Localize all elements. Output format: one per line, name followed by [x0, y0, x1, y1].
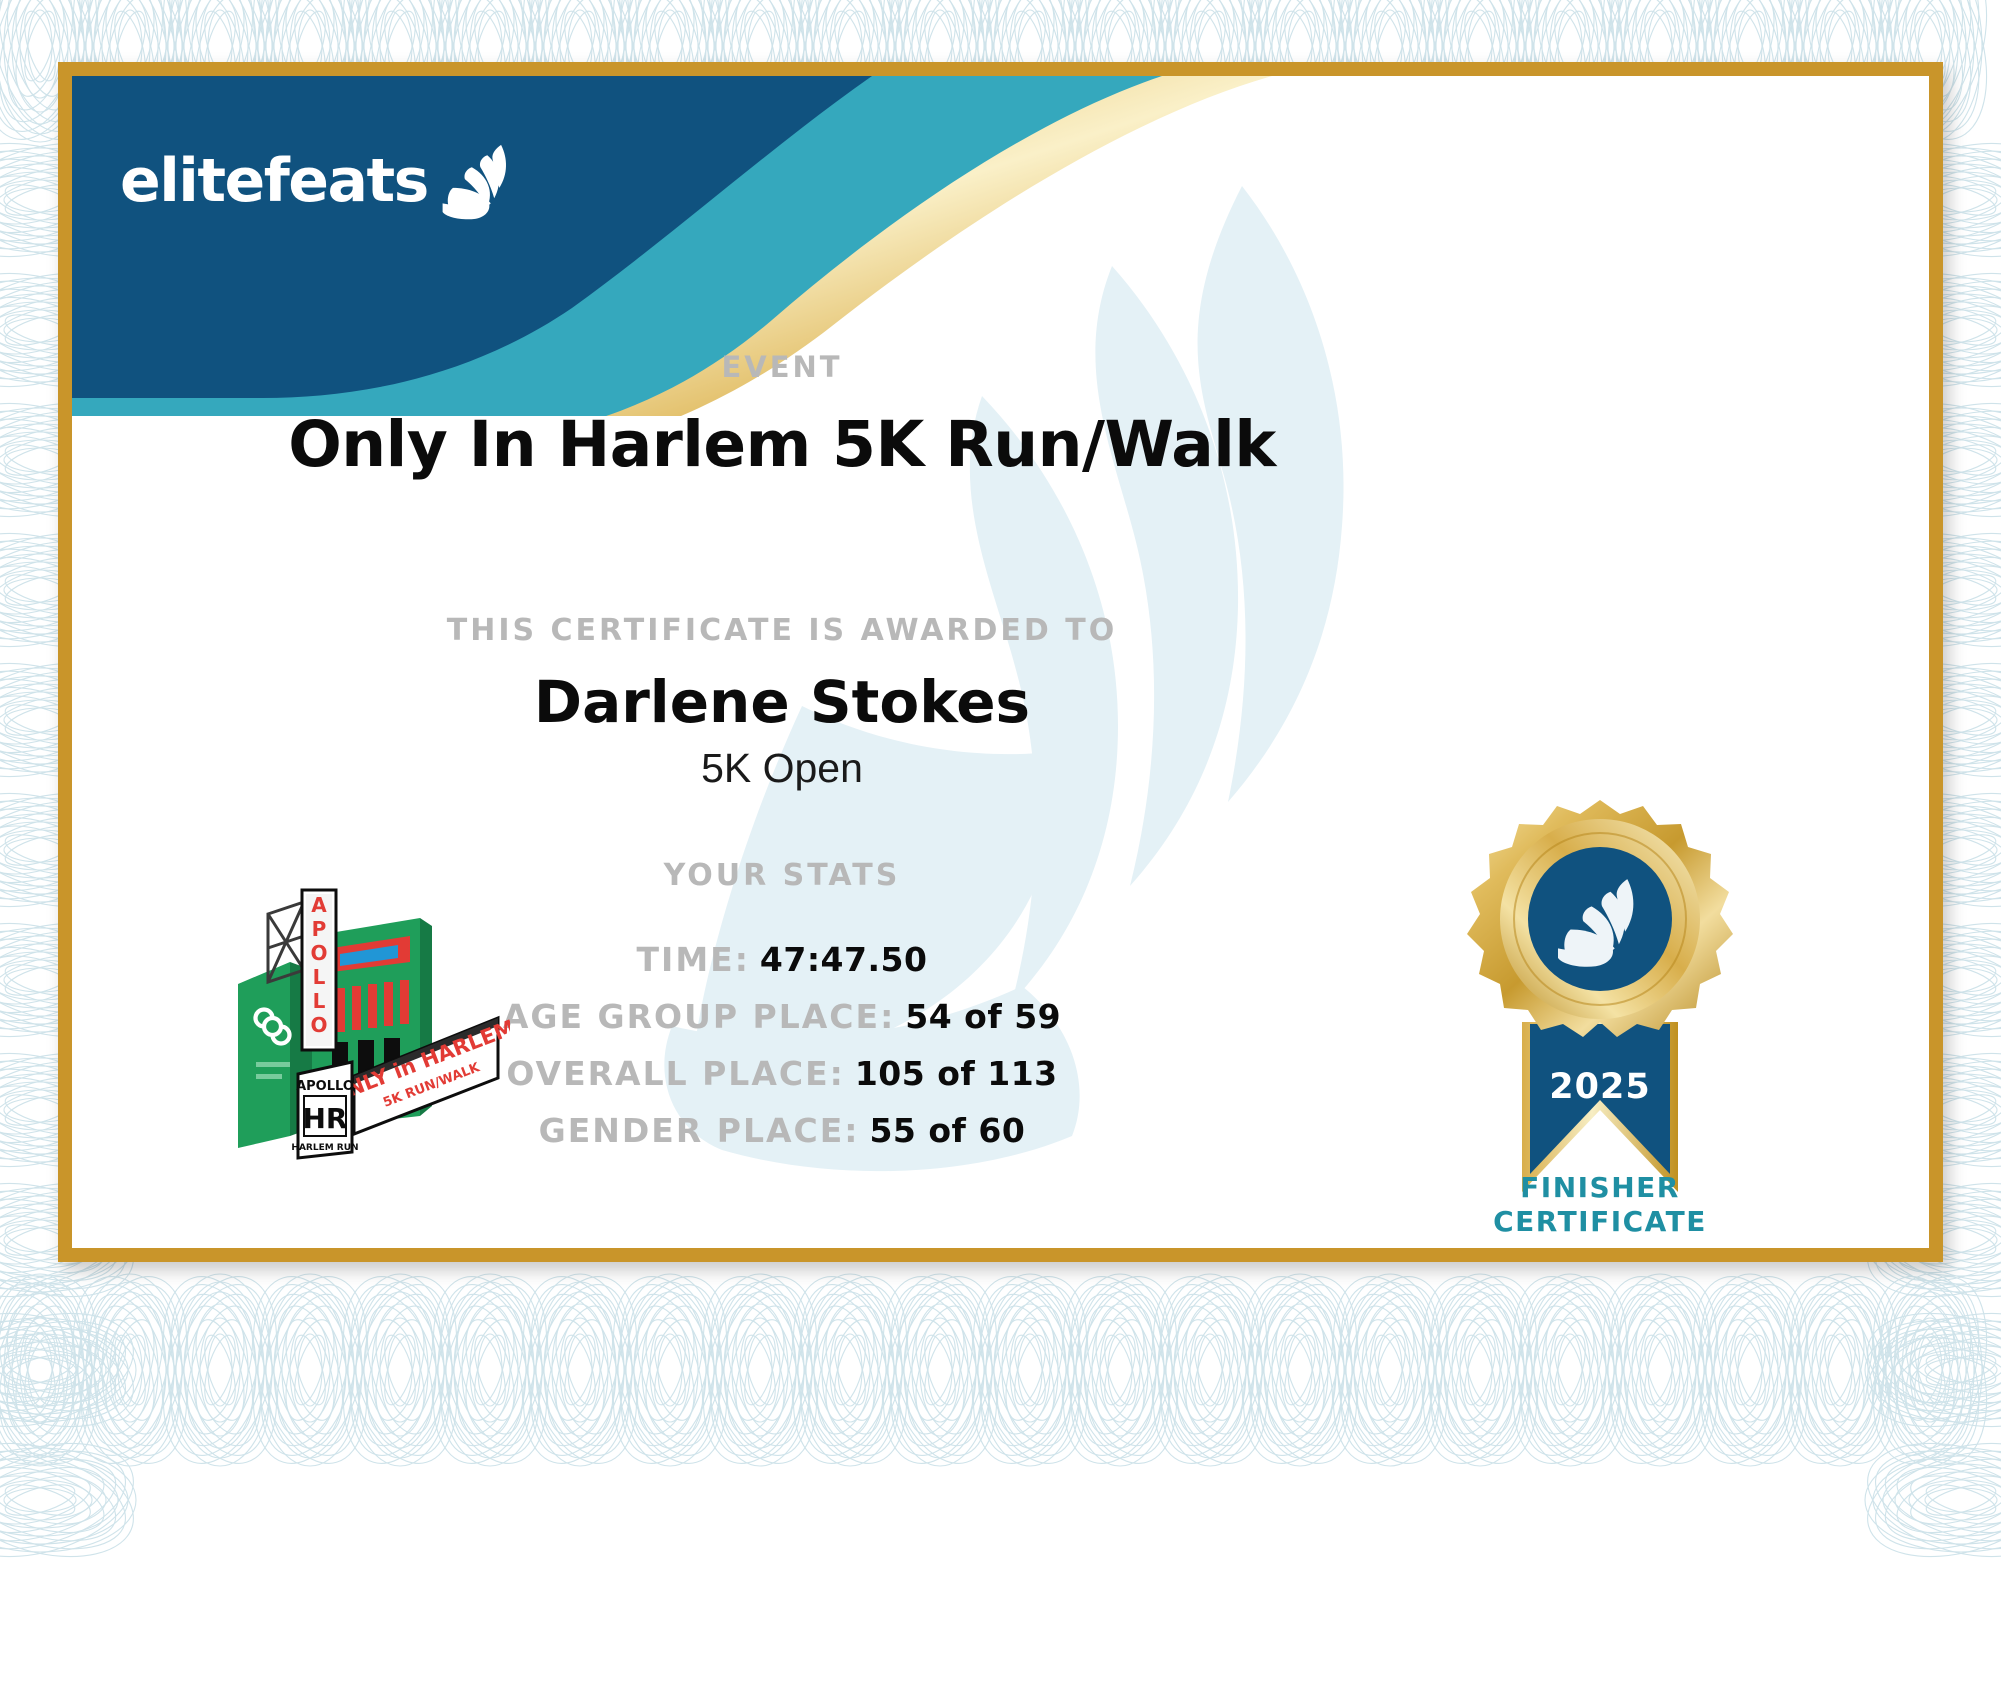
seal-caption-line1: FINISHER — [1390, 1171, 1810, 1205]
svg-text:L: L — [313, 989, 326, 1013]
division-name: 5K Open — [72, 745, 1492, 792]
marquee-small-bottom: HARLEM RUN — [291, 1143, 358, 1153]
brand-name: elitefeats — [120, 151, 428, 211]
seal-year: 2025 — [1549, 1067, 1650, 1107]
stat-value: 47:47.50 — [760, 940, 928, 979]
stat-label: TIME: — [637, 940, 750, 979]
winged-foot-icon — [434, 138, 520, 224]
marquee-small-mid: HR — [303, 1102, 348, 1135]
marquee-small-top: APOLLO — [296, 1079, 354, 1094]
brand-logo: elitefeats — [120, 138, 520, 224]
svg-text:P: P — [312, 917, 327, 941]
awarded-to-label: THIS CERTIFICATE IS AWARDED TO — [72, 613, 1492, 648]
marquee-vertical-text: A — [311, 893, 327, 917]
certificate-card: elitefeats EVENT Only In Harlem 5K Run/W… — [58, 62, 1943, 1262]
stat-value: 54 of 59 — [905, 997, 1061, 1036]
stat-value: 55 of 60 — [869, 1111, 1025, 1150]
svg-text:L: L — [313, 965, 326, 989]
svg-text:O: O — [310, 941, 327, 965]
seal-caption: FINISHER CERTIFICATE — [1390, 1171, 1810, 1239]
apollo-theater-marquee-icon: A P O L L O ONLY in HARLEM 5K RUN/WALK A… — [220, 866, 510, 1166]
event-label: EVENT — [72, 350, 1492, 384]
stat-label: GENDER PLACE: — [539, 1111, 860, 1150]
ribbon-tail: 2025 — [1522, 1022, 1678, 1192]
rosette — [1467, 800, 1733, 1037]
finisher-medal-seal: 2025 — [1450, 792, 1750, 1212]
seal-caption-line2: CERTIFICATE — [1390, 1205, 1810, 1239]
recipient-name: Darlene Stokes — [72, 668, 1492, 736]
svg-text:O: O — [310, 1013, 327, 1037]
event-name: Only In Harlem 5K Run/Walk — [72, 408, 1492, 481]
stat-label: OVERALL PLACE: — [506, 1054, 844, 1093]
stat-value: 105 of 113 — [855, 1054, 1058, 1093]
stat-label: AGE GROUP PLACE: — [503, 997, 895, 1036]
